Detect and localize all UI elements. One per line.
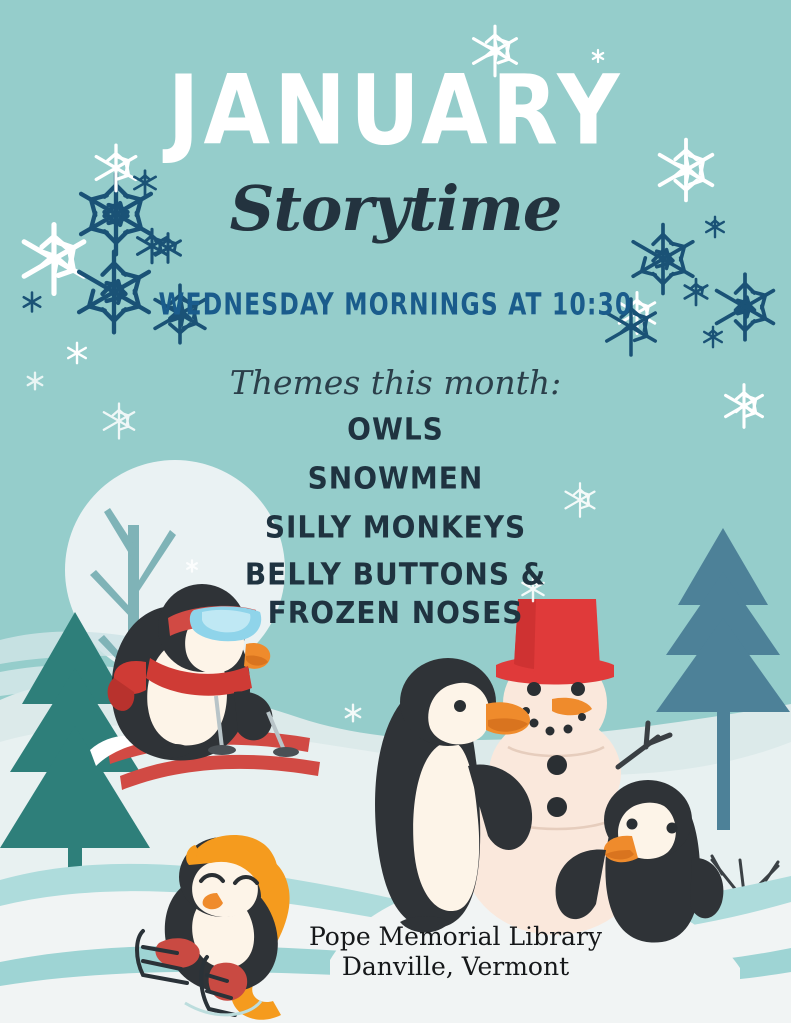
page-title: JANUARY (0, 63, 791, 159)
page-subtitle-script: Storytime (0, 178, 791, 240)
library-credit: Pope Memorial Library Danville, Vermont (0, 922, 791, 981)
list-item: SNOWMEN (0, 459, 791, 498)
list-item-line-1: BELLY BUTTONS & (0, 556, 791, 595)
schedule-text: WEDNESDAY MORNINGS AT 10:30 (0, 287, 791, 322)
list-item: OWLS (0, 411, 791, 450)
list-item-line-2: FROZEN NOSES (0, 594, 791, 633)
list-item: BELLY BUTTONS & FROZEN NOSES (0, 556, 791, 633)
themes-list: OWLS SNOWMEN SILLY MONKEYS BELLY BUTTONS… (0, 412, 791, 630)
library-name: Pope Memorial Library (120, 922, 791, 952)
themes-heading: Themes this month: (0, 363, 791, 402)
poster-canvas: JANUARY Storytime WEDNESDAY MORNINGS AT … (0, 0, 791, 1023)
list-item: SILLY MONKEYS (0, 508, 791, 547)
library-location: Danville, Vermont (120, 952, 791, 982)
poster-text-content: JANUARY Storytime WEDNESDAY MORNINGS AT … (0, 0, 791, 1023)
